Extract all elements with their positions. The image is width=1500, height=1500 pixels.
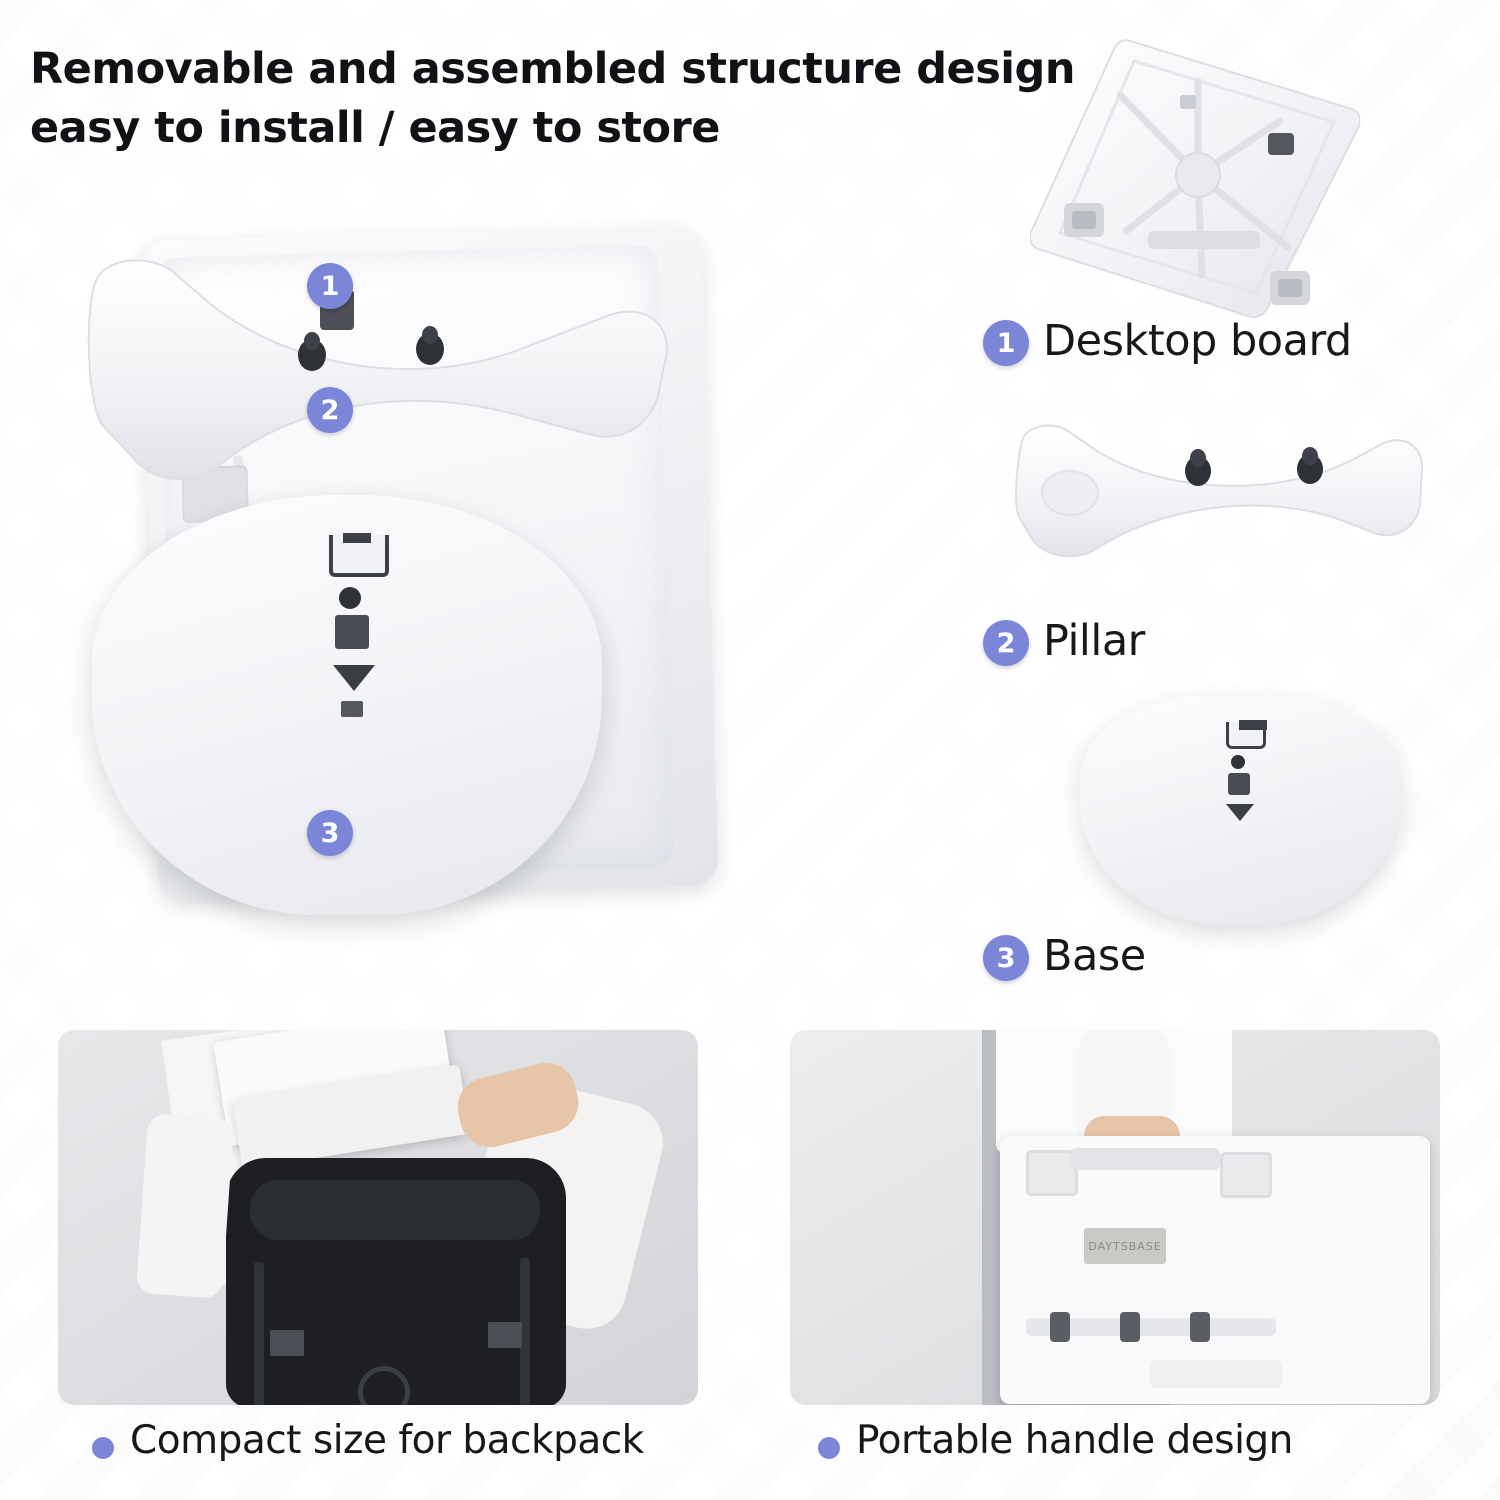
base-figure-latch — [1222, 722, 1262, 842]
latch-clip-icon — [1226, 722, 1266, 749]
base-latch-assembly — [325, 535, 387, 765]
latch-square-icon — [335, 615, 369, 649]
callout-badge-2: 2 — [307, 387, 353, 433]
latch-triangle-icon — [333, 665, 375, 691]
photo-compact-backpack — [58, 1030, 698, 1405]
latch-dot-icon — [1231, 755, 1245, 769]
desktop-board-shape — [1030, 35, 1360, 325]
backpack-strap — [254, 1262, 264, 1405]
brand-mark: DAYTSBASE — [1084, 1228, 1166, 1264]
pillar-figure — [1010, 415, 1430, 570]
legend-badge-2: 2 — [983, 620, 1029, 666]
legend-label-desktop-board: Desktop board — [1043, 316, 1352, 366]
legend-badge-1: 1 — [983, 320, 1029, 366]
caption-bullet-right — [818, 1437, 840, 1459]
pillar-part — [80, 237, 680, 497]
backpack-buckle — [270, 1330, 304, 1356]
legend-label-base: Base — [1043, 931, 1146, 981]
pillar-shape — [80, 237, 680, 497]
callout-badge-1: 1 — [307, 263, 353, 309]
latch-clip-icon — [329, 535, 389, 577]
latch-triangle-icon — [1226, 804, 1254, 821]
product-clip — [1120, 1312, 1140, 1342]
backpack-buckle — [488, 1322, 522, 1348]
caption-bullet-left — [92, 1437, 114, 1459]
product-clip — [1050, 1312, 1070, 1342]
page-title: Removable and assembled structure design… — [30, 40, 1090, 159]
carry-handle — [1070, 1148, 1220, 1170]
photo-portable-handle: DAYTSBASE — [790, 1030, 1440, 1405]
legend-label-pillar: Pillar — [1043, 616, 1145, 666]
backpack-top-pocket — [250, 1180, 540, 1240]
pillar-figure-shape — [1010, 415, 1430, 570]
callout-badge-3: 3 — [307, 810, 353, 856]
legend-badge-3: 3 — [983, 935, 1029, 981]
product-infographic: Removable and assembled structure design… — [0, 0, 1500, 1500]
product-edge — [1150, 1360, 1282, 1388]
latch-tab-icon — [341, 701, 363, 717]
latch-dot-icon — [339, 587, 361, 609]
product-clip — [1190, 1312, 1210, 1342]
latch-square-icon — [1228, 773, 1250, 795]
caption-compact-size: Compact size for backpack — [130, 1418, 644, 1463]
caption-portable-handle: Portable handle design — [856, 1418, 1293, 1463]
product-foot-pad — [1220, 1152, 1272, 1198]
desktop-board-figure — [1030, 35, 1360, 325]
person-sleeve-left — [136, 1113, 234, 1299]
assembled-product-illustration: 1 2 3 — [70, 215, 710, 935]
